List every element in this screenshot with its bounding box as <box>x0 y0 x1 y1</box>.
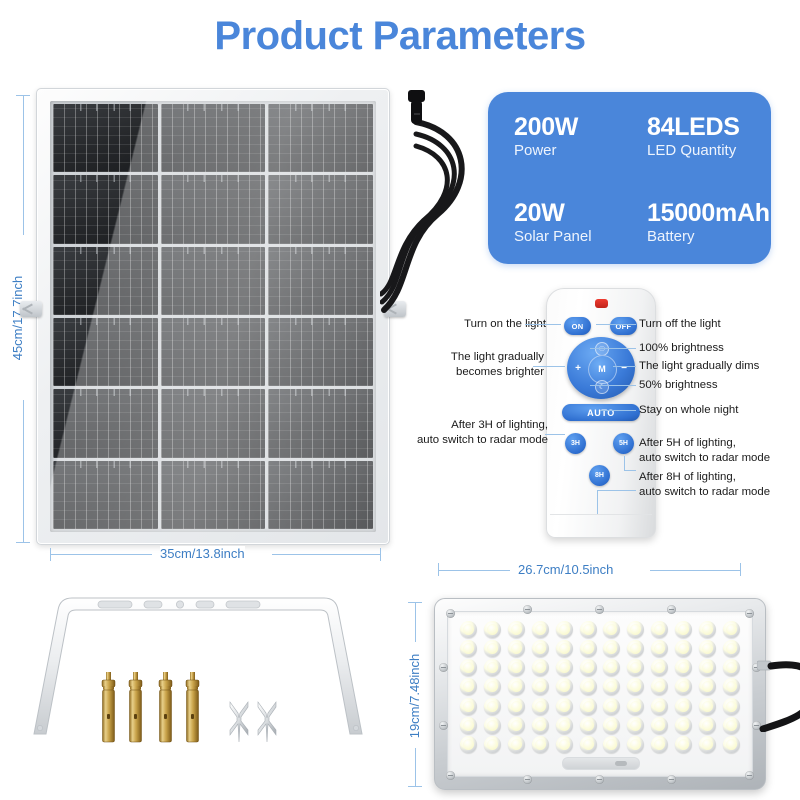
led <box>603 678 620 695</box>
led <box>651 621 668 638</box>
solar-height-line-lower <box>23 400 24 542</box>
leader-50-brightness <box>590 385 636 386</box>
led <box>580 659 597 676</box>
led <box>556 717 573 734</box>
led <box>699 621 716 638</box>
leader-3h <box>545 434 565 435</box>
solar-cell <box>161 461 266 529</box>
remote-seam <box>550 514 652 515</box>
led <box>460 659 477 676</box>
solar-cell <box>53 461 158 529</box>
remote-button-on[interactable]: ON <box>564 317 591 335</box>
expansion-bolt <box>157 672 174 744</box>
led <box>675 698 692 715</box>
led <box>699 736 716 753</box>
led <box>484 736 501 753</box>
led <box>460 698 477 715</box>
led <box>484 717 501 734</box>
solar-width-line-left <box>50 554 152 555</box>
led <box>580 698 597 715</box>
solar-cell <box>161 247 266 315</box>
led <box>723 736 740 753</box>
flood-width-label: 26.7cm/10.5inch <box>518 562 613 577</box>
led <box>675 736 692 753</box>
solar-cell <box>161 389 266 457</box>
led <box>603 640 620 657</box>
led <box>603 621 620 638</box>
remote-button-off[interactable]: OFF <box>610 317 637 335</box>
led <box>508 678 525 695</box>
led <box>603 659 620 676</box>
led <box>699 640 716 657</box>
led <box>723 698 740 715</box>
housing-screw-icon <box>667 605 676 614</box>
flood-height-line-lower <box>415 748 416 786</box>
led <box>532 621 549 638</box>
led <box>484 659 501 676</box>
led <box>603 717 620 734</box>
led <box>484 698 501 715</box>
flood-height-line-upper <box>415 602 416 642</box>
solar-width-line-right <box>272 554 380 555</box>
callout-after-8h-line1: After 8H of lighting, <box>639 470 770 485</box>
solar-cell <box>268 461 373 529</box>
radar-sensor-strip <box>562 757 640 770</box>
led <box>603 698 620 715</box>
solar-width-label: 35cm/13.8inch <box>160 546 245 561</box>
housing-screw-icon <box>446 771 455 780</box>
led <box>651 717 668 734</box>
led <box>508 621 525 638</box>
led <box>532 698 549 715</box>
callout-gradually-dims: The light gradually dims <box>639 359 759 374</box>
spec-value-power: 200W <box>514 114 647 140</box>
led <box>699 698 716 715</box>
leader-turn-on <box>525 324 561 325</box>
led <box>699 659 716 676</box>
led <box>484 621 501 638</box>
expansion-bolt <box>100 672 117 744</box>
flood-width-line-left <box>438 570 510 571</box>
spec-label-solar-panel: Solar Panel <box>514 226 647 249</box>
remote-button-plus[interactable]: + <box>572 361 584 375</box>
remote-indicator-led-icon <box>595 299 608 308</box>
spec-box: 200W Power 84LEDS LED Quantity 20W Solar… <box>488 92 771 264</box>
expansion-bolt <box>184 672 201 744</box>
led <box>460 736 477 753</box>
led <box>532 640 549 657</box>
remote-button-5h[interactable]: 5H <box>613 433 634 454</box>
solar-cell <box>161 318 266 386</box>
led <box>460 678 477 695</box>
callout-50-brightness: 50% brightness <box>639 378 718 393</box>
led <box>627 640 644 657</box>
led <box>651 640 668 657</box>
led <box>580 736 597 753</box>
expansion-bolt <box>127 672 144 744</box>
solar-cell <box>268 318 373 386</box>
led <box>699 717 716 734</box>
remote-button-minus[interactable]: − <box>618 361 630 375</box>
spec-label-battery: Battery <box>647 226 771 249</box>
led <box>484 678 501 695</box>
solar-cell-grid <box>53 104 373 529</box>
led <box>556 736 573 753</box>
led <box>484 640 501 657</box>
callout-after-5h-line2: auto switch to radar mode <box>639 451 770 466</box>
spec-item-battery: 15000mAh Battery <box>647 200 771 264</box>
led <box>675 659 692 676</box>
led <box>532 659 549 676</box>
leader-brighter <box>533 366 565 367</box>
leader-5h-vertical <box>624 456 625 470</box>
leader-8h-vertical <box>597 490 598 514</box>
led <box>627 736 644 753</box>
solar-height-line-upper <box>23 95 24 235</box>
housing-screw-icon <box>745 771 754 780</box>
callout-gradually-brighter: The light gradually becomes brighter <box>426 350 544 379</box>
callout-100-brightness: 100% brightness <box>639 341 724 356</box>
led-grid <box>457 620 743 754</box>
callout-after-5h-line1: After 5H of lighting, <box>639 436 770 451</box>
housing-screw-icon <box>523 605 532 614</box>
led <box>675 640 692 657</box>
wing-nut <box>228 700 250 744</box>
led <box>508 736 525 753</box>
solar-panel-cable <box>380 86 498 316</box>
led <box>651 659 668 676</box>
led <box>723 621 740 638</box>
led <box>556 678 573 695</box>
remote-dpad[interactable]: ☉ + M − ☾ <box>567 337 635 399</box>
led <box>723 659 740 676</box>
led <box>508 717 525 734</box>
solar-height-cap-bottom <box>16 542 30 543</box>
remote-button-8h[interactable]: 8H <box>589 465 610 486</box>
solar-cell <box>53 318 158 386</box>
housing-screw-icon <box>745 609 754 618</box>
callout-after-3h-line1: After 3H of lighting, <box>414 418 548 433</box>
housing-screw-icon <box>446 609 455 618</box>
spec-item-led-quantity: 84LEDS LED Quantity <box>647 114 771 178</box>
remote-button-auto[interactable]: AUTO <box>562 404 640 421</box>
leader-8h <box>597 490 636 491</box>
solar-cell <box>268 389 373 457</box>
callout-gradually-brighter-line2: becomes brighter <box>426 365 544 380</box>
led <box>532 717 549 734</box>
led <box>532 678 549 695</box>
housing-screw-icon <box>595 605 604 614</box>
led <box>723 678 740 695</box>
solar-panel <box>36 88 390 545</box>
floodlight <box>434 598 766 790</box>
solar-cell <box>161 104 266 172</box>
floodlight-cable <box>757 647 800 732</box>
leader-100-brightness <box>590 348 636 349</box>
led <box>508 698 525 715</box>
led <box>651 736 668 753</box>
flood-width-line-right <box>650 570 740 571</box>
solar-cell <box>53 389 158 457</box>
wing-nut <box>256 700 278 744</box>
led <box>675 621 692 638</box>
led <box>675 717 692 734</box>
flood-height-cap-bottom <box>408 786 422 787</box>
led <box>651 678 668 695</box>
led <box>627 698 644 715</box>
housing-screw-icon <box>439 721 448 730</box>
callout-after-8h: After 8H of lighting, auto switch to rad… <box>639 470 770 499</box>
housing-screw-icon <box>523 775 532 784</box>
callout-stay-on-whole-night: Stay on whole night <box>639 403 738 418</box>
callout-after-3h-line2: auto switch to radar mode <box>414 433 548 448</box>
led <box>556 640 573 657</box>
led <box>580 640 597 657</box>
callout-after-3h: After 3H of lighting, auto switch to rad… <box>414 418 548 447</box>
led <box>723 640 740 657</box>
solar-panel-face <box>50 101 376 532</box>
led <box>627 717 644 734</box>
sun-icon[interactable]: ☉ <box>595 342 609 356</box>
panel-mount-tab-left <box>20 301 42 317</box>
spec-label-led-quantity: LED Quantity <box>647 140 771 163</box>
moon-icon[interactable]: ☾ <box>595 380 609 394</box>
infographic-canvas: Product Parameters 45cm/17.7inch 35cm/13… <box>0 0 800 800</box>
led <box>580 717 597 734</box>
callout-after-5h: After 5H of lighting, auto switch to rad… <box>639 436 770 465</box>
solar-cell <box>53 247 158 315</box>
spec-item-power: 200W Power <box>514 114 647 178</box>
callout-gradually-brighter-line1: The light gradually <box>426 350 544 365</box>
led <box>651 698 668 715</box>
solar-cell <box>268 104 373 172</box>
remote-button-3h[interactable]: 3H <box>565 433 586 454</box>
led <box>627 659 644 676</box>
led <box>580 678 597 695</box>
housing-screw-icon <box>439 663 448 672</box>
led <box>675 678 692 695</box>
led <box>460 640 477 657</box>
led <box>580 621 597 638</box>
led <box>556 621 573 638</box>
floodlight-bezel <box>447 611 753 777</box>
led <box>627 621 644 638</box>
spec-item-solar-panel: 20W Solar Panel <box>514 200 647 264</box>
led <box>723 717 740 734</box>
page-title: Product Parameters <box>0 14 800 59</box>
solar-cell <box>53 104 158 172</box>
led <box>508 659 525 676</box>
housing-screw-icon <box>595 775 604 784</box>
led <box>556 659 573 676</box>
housing-screw-icon <box>667 775 676 784</box>
leader-gradually-dims <box>613 366 636 367</box>
solar-cell <box>268 247 373 315</box>
leader-stay-on-whole-night <box>600 410 636 411</box>
led <box>603 736 620 753</box>
led <box>460 621 477 638</box>
callout-after-8h-line2: auto switch to radar mode <box>639 485 770 500</box>
solar-cell <box>53 175 158 243</box>
leader-5h <box>624 470 636 471</box>
spec-label-power: Power <box>514 140 647 163</box>
led <box>556 698 573 715</box>
spec-grid: 200W Power 84LEDS LED Quantity 20W Solar… <box>488 92 771 264</box>
spec-value-battery: 15000mAh <box>647 200 771 226</box>
flood-height-label: 19cm/7.48inch <box>407 641 423 751</box>
led <box>532 736 549 753</box>
leader-turn-off <box>596 324 636 325</box>
solar-width-cap-right <box>380 548 381 561</box>
led <box>699 678 716 695</box>
solar-cell <box>268 175 373 243</box>
solar-height-label: 45cm/17.7inch <box>10 263 26 373</box>
led <box>508 640 525 657</box>
flood-width-cap-right <box>740 563 741 576</box>
spec-value-solar-panel: 20W <box>514 200 647 226</box>
solar-cell <box>161 175 266 243</box>
led <box>627 678 644 695</box>
led <box>460 717 477 734</box>
callout-turn-off-the-light: Turn off the light <box>639 317 721 332</box>
spec-value-led-quantity: 84LEDS <box>647 114 771 140</box>
